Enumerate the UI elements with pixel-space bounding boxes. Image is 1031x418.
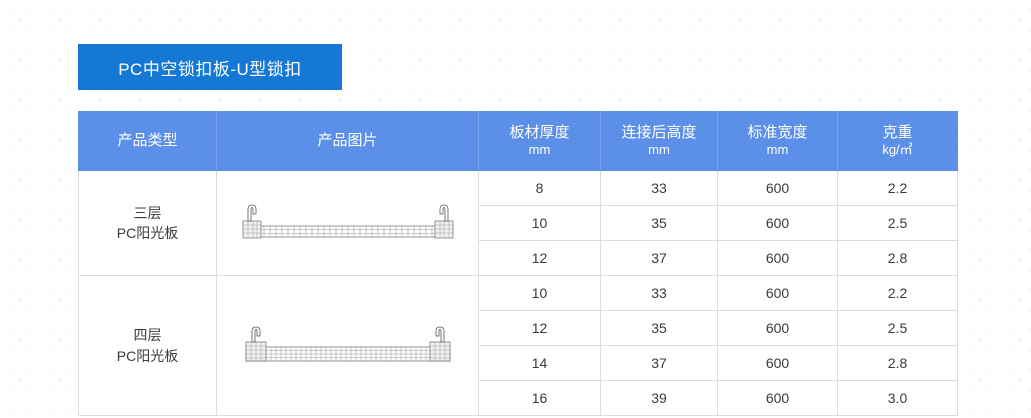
table-row: 四层 PC阳光板 (79, 276, 958, 311)
column-header-connected-height: 连接后高度 mm (601, 112, 718, 171)
cell-connected-height: 37 (601, 346, 718, 381)
column-header-weight: 克重 kg/㎡ (838, 112, 958, 171)
table-body: 三层 PC阳光板 (79, 171, 958, 416)
header-label: 克重 (882, 124, 912, 141)
table-header: 产品类型 产品图片 板材厚度 mm 连接后高度 mm 标准宽度 mm (79, 112, 958, 171)
cell-standard-width: 600 (718, 241, 838, 276)
column-header-product-type: 产品类型 (79, 112, 217, 171)
cell-weight: 2.5 (838, 311, 958, 346)
product-type-line2: PC阳光板 (80, 346, 215, 366)
header-label: 产品图片 (317, 132, 377, 149)
four-layer-panel-diagram (230, 319, 466, 373)
cell-thickness: 8 (479, 171, 601, 206)
table-row: 三层 PC阳光板 (79, 171, 958, 206)
specification-table: 产品类型 产品图片 板材厚度 mm 连接后高度 mm 标准宽度 mm (78, 111, 958, 416)
header-unit: kg/㎡ (839, 142, 956, 158)
cell-standard-width: 600 (718, 311, 838, 346)
cell-connected-height: 33 (601, 171, 718, 206)
header-unit: mm (480, 142, 599, 158)
cell-connected-height: 35 (601, 311, 718, 346)
page-title: PC中空锁扣板-U型锁扣 (118, 55, 302, 80)
cell-standard-width: 600 (718, 171, 838, 206)
header-row: 产品类型 产品图片 板材厚度 mm 连接后高度 mm 标准宽度 mm (79, 112, 958, 171)
three-layer-panel-diagram (230, 200, 466, 246)
cell-standard-width: 600 (718, 346, 838, 381)
cell-weight: 2.2 (838, 171, 958, 206)
product-type-line2: PC阳光板 (80, 223, 215, 243)
cell-thickness: 14 (479, 346, 601, 381)
product-title-banner: PC中空锁扣板-U型锁扣 (78, 44, 342, 90)
column-header-standard-width: 标准宽度 mm (718, 112, 838, 171)
cell-connected-height: 33 (601, 276, 718, 311)
product-type-line1: 四层 (80, 325, 215, 345)
cell-weight: 2.8 (838, 346, 958, 381)
cell-thickness: 12 (479, 311, 601, 346)
column-header-product-image: 产品图片 (217, 112, 479, 171)
cell-thickness: 10 (479, 206, 601, 241)
product-type-cell-four-layer: 四层 PC阳光板 (79, 276, 217, 416)
cell-standard-width: 600 (718, 206, 838, 241)
cell-thickness: 16 (479, 381, 601, 416)
cell-standard-width: 600 (718, 276, 838, 311)
header-label: 标准宽度 (747, 124, 807, 141)
column-header-thickness: 板材厚度 mm (479, 112, 601, 171)
cell-weight: 2.8 (838, 241, 958, 276)
cell-weight: 3.0 (838, 381, 958, 416)
cell-thickness: 12 (479, 241, 601, 276)
cell-weight: 2.5 (838, 206, 958, 241)
cell-connected-height: 35 (601, 206, 718, 241)
header-label: 板材厚度 (509, 124, 569, 141)
cell-thickness: 10 (479, 276, 601, 311)
cell-connected-height: 37 (601, 241, 718, 276)
header-unit: mm (602, 142, 716, 158)
header-label: 连接后高度 (621, 124, 696, 141)
cell-weight: 2.2 (838, 276, 958, 311)
header-label: 产品类型 (117, 132, 177, 149)
product-spec-page: PC中空锁扣板-U型锁扣 产品类型 产品图片 板材厚度 mm (0, 0, 1031, 418)
cell-standard-width: 600 (718, 381, 838, 416)
product-type-line1: 三层 (80, 203, 215, 223)
cell-connected-height: 39 (601, 381, 718, 416)
product-image-cell-three-layer (217, 171, 479, 276)
product-type-cell-three-layer: 三层 PC阳光板 (79, 171, 217, 276)
product-image-cell-four-layer (217, 276, 479, 416)
header-unit: mm (719, 142, 836, 158)
